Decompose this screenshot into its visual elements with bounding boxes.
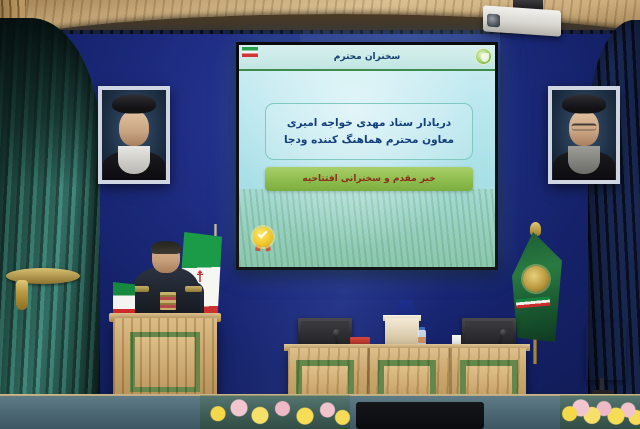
portrait-beard <box>568 146 600 174</box>
projection-screen-frame: سخنران محترم دریادار ستاد مهدی خواجه امی… <box>236 42 498 270</box>
slide-header-text: سخنران محترم <box>334 52 400 62</box>
portrait-khomeini <box>98 86 170 184</box>
portrait-glasses-icon <box>572 123 597 130</box>
portrait-turban <box>112 95 156 114</box>
portrait-turban <box>562 95 606 114</box>
iran-flag-corner-icon <box>242 47 258 57</box>
portrait-beard <box>118 146 150 174</box>
flower-arrangement <box>560 395 640 429</box>
slide-title-box: دریادار ستاد مهدی خواجه امیری معاون محتر… <box>265 103 473 160</box>
slide-banner-text: خیر مقدم و سخنرانی افتتاحیه <box>302 174 435 184</box>
podium-front-panel <box>130 332 200 392</box>
portrait-frame-inner <box>102 90 166 180</box>
epaulette-right-icon <box>185 286 202 292</box>
organization-logo-icon <box>475 48 492 65</box>
wooden-podium <box>113 318 217 404</box>
microphone-right-head-icon <box>500 329 507 336</box>
uniform-medals-icon <box>160 292 176 310</box>
portrait-frame-inner <box>552 90 616 180</box>
office-chair <box>586 322 626 380</box>
document-box <box>385 318 419 346</box>
flower-arrangement <box>200 395 350 429</box>
projector-lens-icon <box>487 14 500 28</box>
water-bottle-label <box>418 337 426 343</box>
microphone-left-head-icon <box>333 329 340 336</box>
standard-gold-emblem-icon <box>523 266 549 292</box>
portrait-face <box>119 110 149 146</box>
slide-header-bar: سخنران محترم <box>239 45 495 71</box>
conference-hall-photo: سخنران محترم دریادار ستاد مهدی خواجه امی… <box>0 0 640 429</box>
monitor-left-screen <box>301 321 349 346</box>
foreground-dark-monitor <box>356 402 484 429</box>
flower-mass <box>200 395 350 429</box>
slide-title-line-1: دریادار ستاد مهدی خواجه امیری <box>287 117 451 129</box>
projection-screen: سخنران محترم دریادار ستاد مهدی خواجه امی… <box>239 45 495 267</box>
curtain-tassel-drop <box>16 280 28 310</box>
flower-mass <box>560 395 640 429</box>
slide-title-line-2: معاون محترم هماهنگ کننده ودجا <box>284 134 454 146</box>
speaker-hair <box>151 241 181 254</box>
portrait-khamenei <box>548 86 620 184</box>
slide-green-banner: خیر مقدم و سخنرانی افتتاحیه <box>265 167 473 191</box>
slide-grass-background <box>239 189 495 267</box>
award-rosette-check-icon <box>253 227 275 249</box>
